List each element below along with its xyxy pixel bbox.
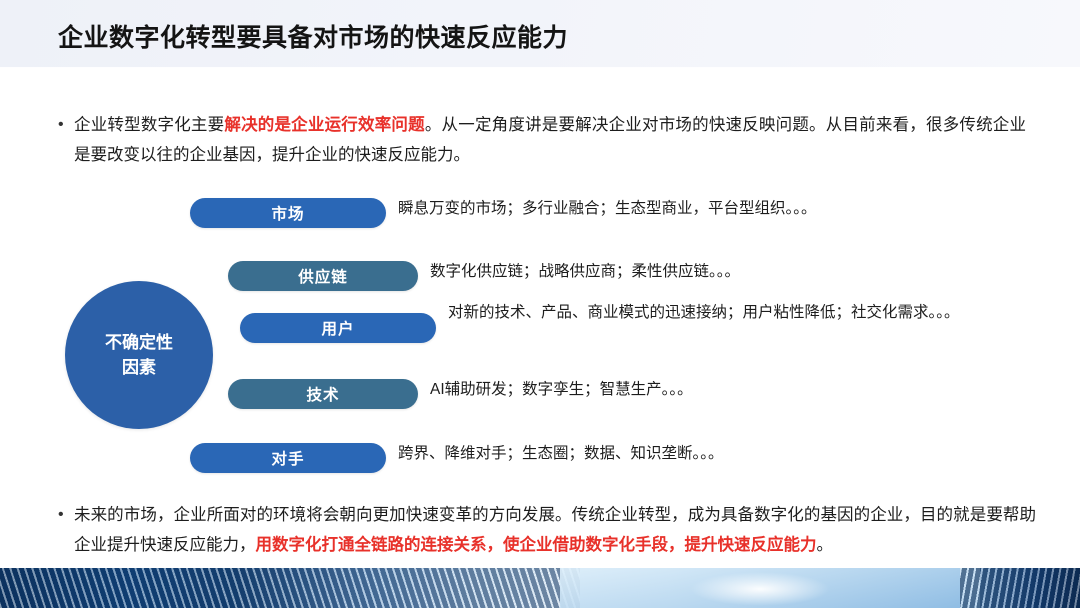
paragraph-top-seg1: 企业转型数字化主要 — [74, 116, 224, 134]
pill-label-competitor[interactable]: 对手 — [190, 443, 386, 473]
pill-label-technology[interactable]: 技术 — [228, 379, 418, 409]
pill-desc-technology: AI辅助研发；数字孪生；智慧生产。。。 — [430, 377, 1030, 402]
paragraph-bottom-seg3: 。 — [817, 536, 834, 554]
bullet-marker: • — [52, 500, 74, 530]
pill-label-supply-chain[interactable]: 供应链 — [228, 261, 418, 291]
paragraph-bottom-text: 未来的市场，企业所面对的环境将会朝向更加快速变革的方向发展。传统企业转型，成为具… — [74, 500, 1036, 560]
footer-cloud — [690, 572, 830, 606]
core-circle-uncertainty: 不确定性 因素 — [65, 281, 213, 429]
paragraph-top-highlight: 解决的是企业运行效率问题 — [224, 116, 424, 134]
pill-label-market[interactable]: 市场 — [190, 198, 386, 228]
core-circle-line1: 不确定性 — [105, 330, 173, 355]
pill-desc-supply-chain: 数字化供应链；战略供应商；柔性供应链。。。 — [430, 259, 1030, 284]
slide-canvas: 企业数字化转型要具备对市场的快速反应能力 • 企业转型数字化主要解决的是企业运行… — [0, 0, 1080, 608]
paragraph-top: • 企业转型数字化主要解决的是企业运行效率问题。从一定角度讲是要解决企业对市场的… — [52, 110, 1032, 170]
pill-desc-competitor: 跨界、降维对手；生态圈；数据、知识垄断。。。 — [398, 441, 998, 466]
footer-building-facade-left — [0, 568, 580, 608]
core-circle-line2: 因素 — [122, 355, 156, 380]
uncertainty-diagram: 不确定性 因素 市场 瞬息万变的市场；多行业融合；生态型商业，平台型组织。。。 … — [0, 185, 1080, 490]
footer-building-facade-right — [960, 568, 1080, 608]
pill-desc-market: 瞬息万变的市场；多行业融合；生态型商业，平台型组织。。。 — [398, 196, 998, 221]
paragraph-bottom: • 未来的市场，企业所面对的环境将会朝向更加快速变革的方向发展。传统企业转型，成… — [52, 500, 1042, 560]
page-title: 企业数字化转型要具备对市场的快速反应能力 — [58, 18, 568, 54]
pill-desc-user: 对新的技术、产品、商业模式的迅速接纳；用户粘性降低；社交化需求。。。 — [448, 300, 1008, 325]
paragraph-bottom-highlight: 用数字化打通全链路的连接关系，使企业借助数字化手段，提升快速反应能力 — [256, 536, 817, 554]
pill-label-user[interactable]: 用户 — [240, 313, 436, 343]
paragraph-top-text: 企业转型数字化主要解决的是企业运行效率问题。从一定角度讲是要解决企业对市场的快速… — [74, 110, 1026, 170]
bullet-marker: • — [52, 110, 74, 140]
footer-building-photo — [0, 568, 1080, 608]
